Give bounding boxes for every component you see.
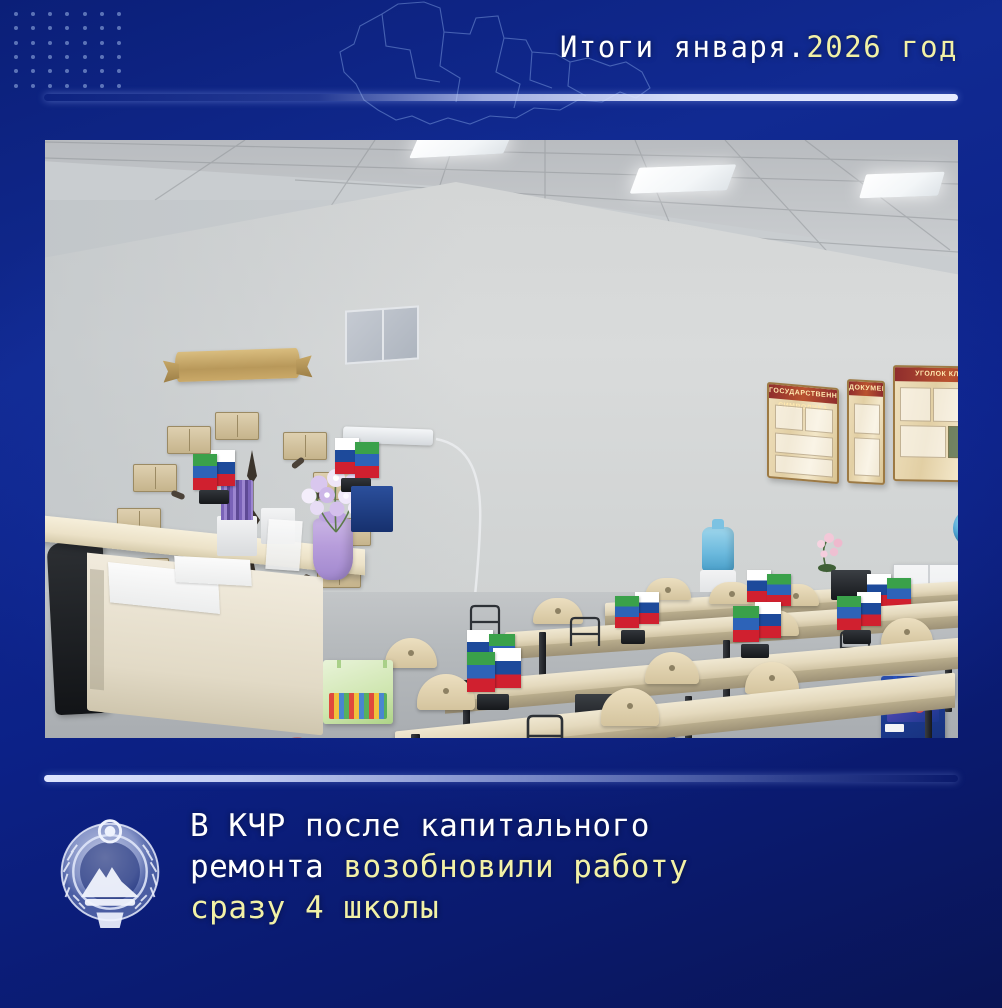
page-title-white: Итоги января. (560, 30, 806, 64)
dot-grid-icon (14, 12, 134, 98)
ceiling-light-panel (859, 172, 945, 199)
info-board: ДОКУМЕНТЫ (847, 379, 885, 485)
ceiling-light-panel (630, 164, 737, 193)
flag-holder (731, 602, 793, 662)
desk-leg (925, 710, 932, 738)
desk-papers (174, 556, 252, 586)
page-title: Итоги января.2026 год (560, 30, 958, 64)
caption-line-1-white: В КЧР после капитального (190, 808, 650, 844)
classroom-photo: ГОСУДАРСТВЕННАЯ СИМВОЛИКА ДОКУМЕНТЫ УГОЛ… (45, 140, 958, 738)
info-board-title: ДОКУМЕНТЫ (849, 381, 883, 397)
caption-line-3-yellow: сразу 4 школы (190, 890, 439, 926)
wall-book-decor (215, 412, 259, 440)
info-board: УГОЛОК КЛАССА (893, 365, 958, 483)
school-bag-green (323, 660, 393, 724)
flag-holder (835, 592, 891, 648)
caption-line-2: ремонта возобновили работу (190, 847, 980, 888)
info-board-title: УГОЛОК КЛАССА (895, 367, 958, 383)
ventilation-grille-icon (345, 305, 419, 364)
flag-holder (465, 648, 535, 716)
flag-kchr (355, 442, 379, 478)
flag-kchr (837, 596, 861, 630)
book-stand (521, 712, 569, 738)
kchr-coat-of-arms-icon (52, 812, 168, 928)
flag-russia (493, 648, 521, 688)
wall-book-decor (133, 464, 177, 492)
flag-kchr (733, 606, 759, 642)
name-plate (351, 486, 393, 532)
caption-line-2-white: ремонта (190, 849, 343, 885)
flag-kchr (193, 454, 217, 490)
wall-banner (175, 348, 301, 382)
caption-line-2-yellow: возобновили работу (343, 849, 688, 885)
info-board-title: ГОСУДАРСТВЕННАЯ СИМВОЛИКА (769, 384, 837, 404)
desk-leg (411, 734, 420, 738)
flag-kchr (467, 652, 495, 692)
caption-line-1: В КЧР после капитального (190, 806, 980, 847)
wall-book-decor (283, 432, 327, 460)
pen-holder (217, 516, 257, 556)
water-cooler-bottle (702, 527, 734, 571)
page-title-yellow: 2026 год (806, 30, 958, 64)
flag-holder (611, 592, 669, 648)
caption-line-3: сразу 4 школы (190, 888, 980, 929)
divider-top (44, 94, 958, 101)
flag-kchr (615, 596, 639, 628)
poster-root: Итоги января.2026 год (0, 0, 1002, 1008)
orchid-plant-icon (807, 532, 851, 574)
book-stand (565, 614, 605, 648)
caption-text: В КЧР после капитального ремонта возобно… (190, 806, 980, 929)
divider-bottom (44, 775, 958, 782)
flag-holder (193, 450, 249, 510)
info-board: ГОСУДАРСТВЕННАЯ СИМВОЛИКА (767, 382, 839, 484)
